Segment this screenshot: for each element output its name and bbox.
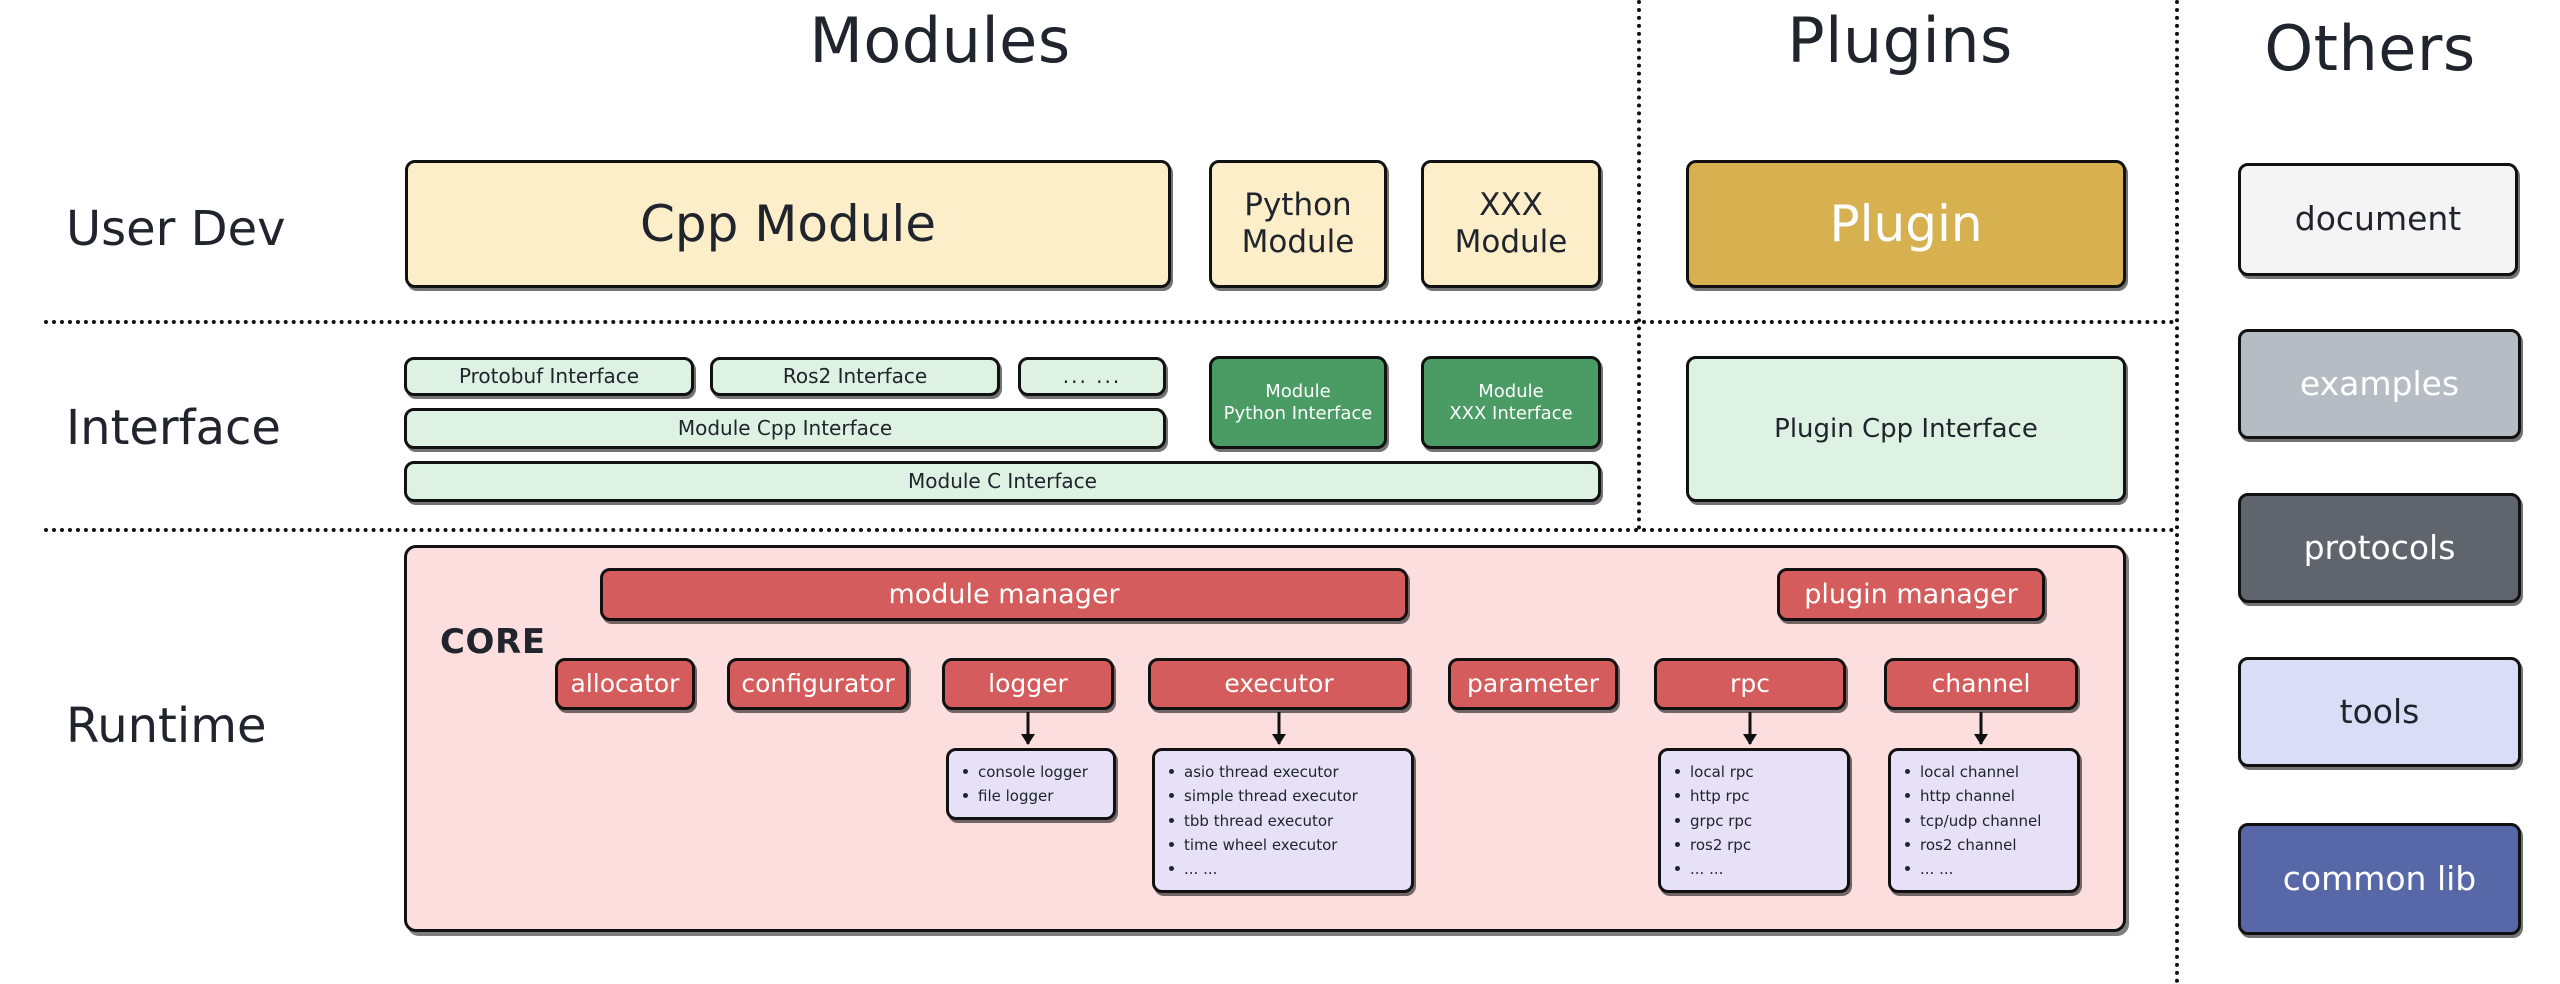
module-cpp-interface-label: Module Cpp Interface — [678, 417, 892, 441]
list-item: local channel — [1903, 760, 2041, 784]
list-item: time wheel executor — [1167, 833, 1358, 857]
channel-details-list: local channel http channel tcp/udp chann… — [1903, 760, 2041, 881]
logger-label: logger — [988, 669, 1068, 699]
module-manager-box[interactable]: module manager — [600, 568, 1408, 621]
list-item: http rpc — [1673, 784, 1754, 808]
list-item: ros2 channel — [1903, 833, 2041, 857]
more-interface-box[interactable]: ... ... — [1018, 357, 1166, 396]
list-item: asio thread executor — [1167, 760, 1358, 784]
architecture-diagram: Modules Plugins Others User Dev Interfac… — [0, 0, 2560, 984]
others-document-label: document — [2295, 200, 2462, 239]
xxx-module-box[interactable]: XXX Module — [1421, 160, 1601, 288]
others-tools-box[interactable]: tools — [2238, 657, 2521, 767]
cpp-module-label: Cpp Module — [640, 195, 936, 254]
plugin-cpp-interface-label: Plugin Cpp Interface — [1774, 414, 2038, 445]
row-label-interface: Interface — [66, 404, 281, 452]
row-label-user-dev: User Dev — [66, 205, 286, 253]
module-c-interface-label: Module C Interface — [908, 470, 1097, 494]
others-tools-label: tools — [2340, 693, 2420, 732]
allocator-box[interactable]: allocator — [555, 658, 695, 710]
configurator-box[interactable]: configurator — [727, 658, 909, 710]
plugin-manager-box[interactable]: plugin manager — [1777, 568, 2045, 621]
executor-label: executor — [1224, 669, 1333, 699]
row-divider-user-dev-interface — [44, 320, 2176, 324]
list-item: local rpc — [1673, 760, 1754, 784]
column-divider-plugins-others — [2175, 0, 2179, 984]
allocator-label: allocator — [571, 669, 680, 699]
configurator-label: configurator — [741, 669, 894, 699]
plugin-cpp-interface-box[interactable]: Plugin Cpp Interface — [1686, 356, 2126, 502]
others-protocols-box[interactable]: protocols — [2238, 493, 2521, 603]
list-item: http channel — [1903, 784, 2041, 808]
column-divider-modules-plugins — [1637, 0, 1641, 530]
executor-details-list: asio thread executor simple thread execu… — [1167, 760, 1358, 881]
module-python-interface-box[interactable]: Module Python Interface — [1209, 356, 1387, 449]
row-divider-interface-runtime — [44, 528, 2176, 532]
ros2-interface-box[interactable]: Ros2 Interface — [710, 357, 1000, 396]
list-item: file logger — [961, 784, 1088, 808]
list-item: ... ... — [1903, 857, 2041, 881]
plugin-box[interactable]: Plugin — [1686, 160, 2126, 288]
list-item: ... ... — [1167, 857, 1358, 881]
list-item: ros2 rpc — [1673, 833, 1754, 857]
more-interface-label: ... ... — [1063, 365, 1122, 389]
row-label-runtime: Runtime — [66, 702, 266, 750]
logger-details-box: console logger file logger — [946, 748, 1116, 820]
cpp-module-box[interactable]: Cpp Module — [405, 160, 1171, 288]
channel-details-box: local channel http channel tcp/udp chann… — [1888, 748, 2080, 893]
plugin-label: Plugin — [1829, 195, 1982, 254]
list-item: grpc rpc — [1673, 809, 1754, 833]
column-title-others: Others — [2200, 18, 2540, 80]
ros2-interface-label: Ros2 Interface — [783, 365, 927, 389]
rpc-details-box: local rpc http rpc grpc rpc ros2 rpc ...… — [1658, 748, 1850, 893]
channel-label: channel — [1932, 669, 2031, 699]
python-module-box[interactable]: Python Module — [1209, 160, 1387, 288]
others-examples-box[interactable]: examples — [2238, 329, 2521, 439]
executor-arrow — [1269, 712, 1289, 744]
executor-details-box: asio thread executor simple thread execu… — [1152, 748, 1414, 893]
xxx-module-label: XXX Module — [1455, 187, 1568, 260]
list-item: tbb thread executor — [1167, 809, 1358, 833]
others-common-lib-label: common lib — [2283, 860, 2477, 899]
core-label: CORE — [440, 625, 546, 659]
column-title-modules: Modules — [690, 10, 1190, 72]
others-common-lib-box[interactable]: common lib — [2238, 823, 2521, 935]
parameter-label: parameter — [1467, 669, 1599, 699]
executor-box[interactable]: executor — [1148, 658, 1410, 710]
module-xxx-interface-box[interactable]: Module XXX Interface — [1421, 356, 1601, 449]
list-item: ... ... — [1673, 857, 1754, 881]
module-cpp-interface-box[interactable]: Module Cpp Interface — [404, 408, 1166, 449]
logger-arrow — [1018, 712, 1038, 744]
protobuf-interface-box[interactable]: Protobuf Interface — [404, 357, 694, 396]
list-item: tcp/udp channel — [1903, 809, 2041, 833]
logger-details-list: console logger file logger — [961, 760, 1088, 809]
list-item: simple thread executor — [1167, 784, 1358, 808]
plugin-manager-label: plugin manager — [1804, 579, 2017, 611]
rpc-box[interactable]: rpc — [1654, 658, 1846, 710]
others-protocols-label: protocols — [2304, 529, 2456, 568]
protobuf-interface-label: Protobuf Interface — [459, 365, 639, 389]
parameter-box[interactable]: parameter — [1448, 658, 1618, 710]
others-examples-label: examples — [2300, 365, 2459, 404]
module-xxx-interface-label: Module XXX Interface — [1449, 381, 1572, 423]
module-c-interface-box[interactable]: Module C Interface — [404, 461, 1601, 502]
channel-box[interactable]: channel — [1884, 658, 2078, 710]
rpc-label: rpc — [1730, 669, 1770, 699]
logger-box[interactable]: logger — [942, 658, 1114, 710]
rpc-details-list: local rpc http rpc grpc rpc ros2 rpc ...… — [1673, 760, 1754, 881]
python-module-label: Python Module — [1242, 187, 1355, 260]
list-item: console logger — [961, 760, 1088, 784]
rpc-arrow — [1740, 712, 1760, 744]
channel-arrow — [1971, 712, 1991, 744]
module-python-interface-label: Module Python Interface — [1224, 381, 1373, 423]
others-document-box[interactable]: document — [2238, 163, 2518, 276]
module-manager-label: module manager — [888, 579, 1119, 611]
column-title-plugins: Plugins — [1650, 10, 2150, 72]
